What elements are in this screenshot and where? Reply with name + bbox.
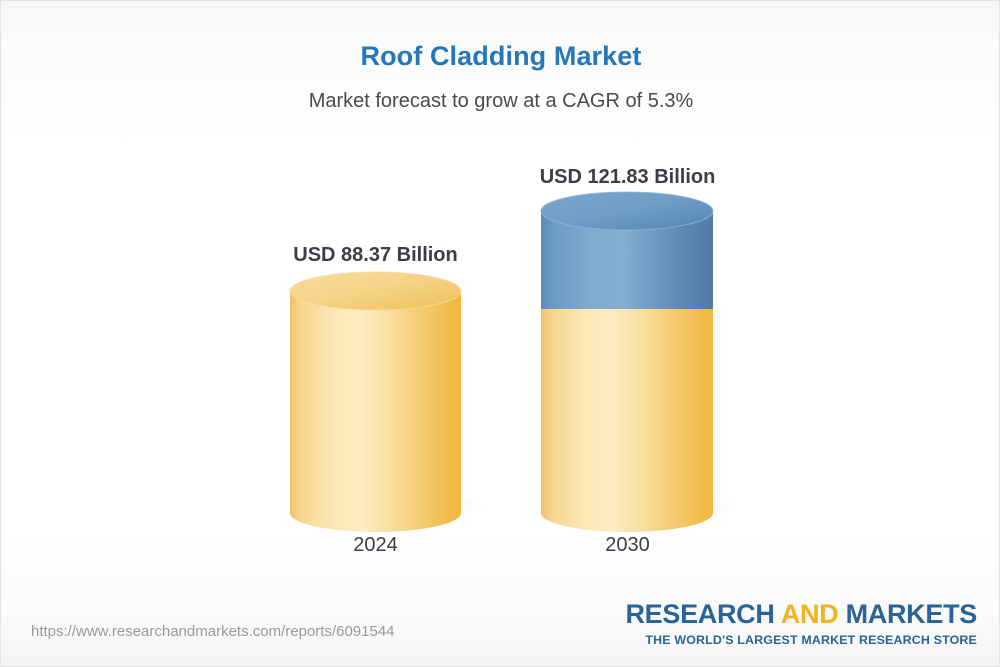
logo-tagline: THE WORLD'S LARGEST MARKET RESEARCH STOR… [625,634,977,646]
bar-2030-base-body [541,309,713,532]
source-url[interactable]: https://www.researchandmarkets.com/repor… [31,623,395,640]
chart-svg [1,1,1000,667]
chart-canvas: Roof Cladding Market Market forecast to … [0,0,1000,667]
bar-2030-value-label: USD 121.83 Billion [517,166,738,189]
cylinder-bar-chart: USD 88.37 Billion USD 121.83 Billion 202… [1,1,1000,667]
logo-word-research: RESEARCH [625,599,780,629]
logo-word-markets: MARKETS [838,599,977,629]
category-label-2030: 2030 [547,534,708,557]
bar-2024-value-label: USD 88.37 Billion [275,244,476,267]
bar-2030[interactable] [541,192,713,532]
bar-2024-body [290,291,461,532]
research-and-markets-logo[interactable]: RESEARCH AND MARKETS THE WORLD'S LARGEST… [625,601,977,646]
logo-word-and: AND [781,599,839,629]
category-label-2024: 2024 [295,534,456,557]
bar-2024[interactable] [290,272,461,532]
logo-wordmark: RESEARCH AND MARKETS [625,601,977,628]
